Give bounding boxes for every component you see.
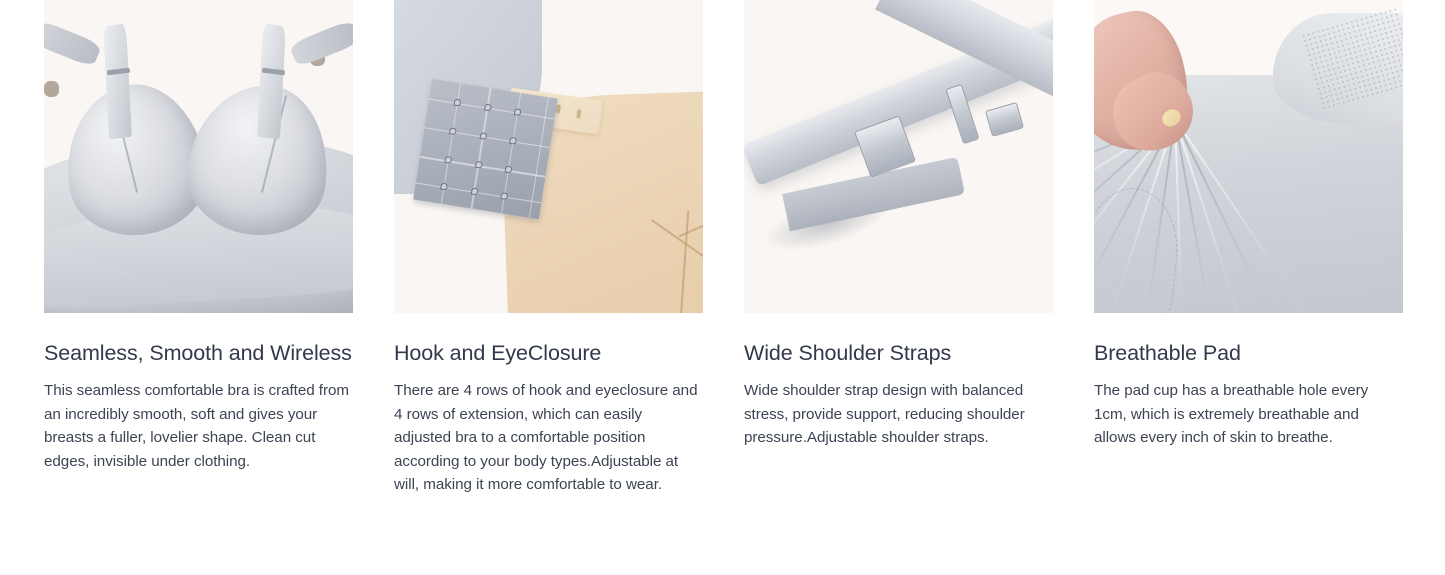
feature-body: This seamless comfortable bra is crafted… [44, 379, 352, 473]
feature-body: There are 4 rows of hook and eyeclosure … [394, 379, 703, 497]
feature-card-seamless-smooth-wireless: Seamless, Smooth and Wireless This seaml… [44, 0, 353, 497]
feature-card-hook-and-eyeclosure: Hook and EyeClosure There are 4 rows of … [394, 0, 703, 497]
hook-row [424, 127, 549, 148]
feature-heading: Seamless, Smooth and Wireless [44, 339, 353, 368]
hook-row [429, 98, 554, 119]
feature-card-wide-shoulder-straps: Wide Shoulder Straps Wide shoulder strap… [744, 0, 1053, 497]
hook [484, 103, 492, 111]
product-photo-shoulder-strap [744, 0, 1053, 313]
feature-image-wide-shoulder-straps [744, 0, 1053, 313]
hook [514, 108, 522, 116]
hook [500, 192, 508, 200]
hook [440, 182, 448, 190]
hook-row [415, 182, 540, 203]
product-photo-bra-front [44, 0, 353, 313]
hook [454, 98, 462, 106]
strap-shadow-left [44, 81, 59, 97]
shoulder-strap-left [103, 24, 132, 140]
feature-image-breathable-pad [1094, 0, 1403, 313]
beige-seam [651, 219, 703, 299]
feature-body: Wide shoulder strap design with balanced… [744, 379, 1044, 450]
pleat [1174, 118, 1277, 313]
strap-slider-rear [985, 102, 1024, 137]
product-photo-hook-closure [394, 0, 703, 313]
feature-grid: Seamless, Smooth and Wireless This seaml… [44, 0, 1401, 497]
feature-heading: Wide Shoulder Straps [744, 339, 1053, 368]
pleat [1174, 118, 1305, 311]
hook [470, 187, 478, 195]
feature-card-breathable-pad: Breathable Pad The pad cup has a breatha… [1094, 0, 1403, 497]
beige-seam [677, 211, 689, 313]
back-strap-left [44, 19, 102, 68]
feature-body: The pad cup has a breathable hole every … [1094, 379, 1403, 450]
eye-loop [556, 105, 561, 114]
hook [449, 127, 457, 135]
hook [444, 156, 452, 164]
feature-image-seamless-smooth-wireless [44, 0, 353, 313]
hook-row [420, 156, 545, 177]
hook [479, 132, 487, 140]
hook [509, 137, 517, 145]
beige-seam [679, 194, 703, 236]
feature-heading: Breathable Pad [1094, 339, 1403, 368]
pleat [1174, 119, 1247, 313]
feature-heading: Hook and EyeClosure [394, 339, 703, 368]
hook-panel [413, 78, 557, 218]
hook [474, 161, 482, 169]
hook [504, 165, 512, 173]
eye-loop [576, 109, 581, 118]
product-photo-breathable-pad [1094, 0, 1403, 313]
feature-image-hook-and-eyeclosure [394, 0, 703, 313]
